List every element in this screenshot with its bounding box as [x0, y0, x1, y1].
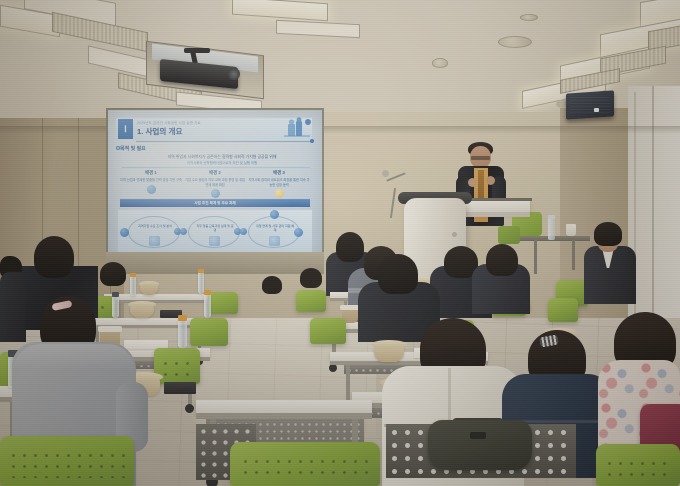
table-caster	[329, 364, 337, 372]
side-table	[520, 236, 590, 241]
table-leg	[572, 240, 575, 270]
attendee-head	[486, 244, 518, 276]
attendee-head	[34, 236, 74, 278]
bowl-rim	[371, 340, 407, 349]
bowl-rim	[128, 301, 156, 308]
chair	[208, 292, 238, 314]
cup-lid	[98, 326, 122, 332]
water-bottle	[548, 218, 555, 240]
bottle-cap	[112, 292, 119, 297]
chair	[190, 318, 228, 346]
attendee-head	[100, 262, 126, 286]
attendee-head	[378, 254, 418, 294]
water-bottle	[204, 294, 211, 318]
screen-glare	[108, 110, 322, 266]
backpack	[428, 420, 532, 470]
attendee-head	[336, 232, 364, 262]
attendee-head	[594, 222, 622, 246]
water-bottle	[178, 320, 187, 348]
bottle-cap	[204, 290, 211, 295]
presenter-hand	[486, 176, 495, 185]
bottle-cap	[178, 315, 187, 321]
table-leg	[534, 240, 537, 274]
bottle-cap	[548, 215, 555, 219]
speaker-grill	[570, 95, 610, 113]
glasses-icon	[471, 156, 490, 160]
chair-perforations	[240, 456, 372, 480]
chair	[310, 318, 346, 344]
cup-lid	[340, 305, 360, 310]
food-tray	[164, 382, 196, 394]
attendee-body	[0, 272, 26, 342]
attendee-shoulder-highlight	[14, 344, 134, 370]
screen-lower-frame	[106, 252, 324, 274]
water-bottle	[130, 276, 136, 296]
bottle-cap	[198, 269, 204, 273]
chair	[548, 298, 578, 322]
table	[196, 400, 372, 413]
table-caster	[185, 404, 194, 413]
chair-perforations	[8, 450, 126, 478]
water-bottle	[112, 296, 119, 318]
chair	[498, 226, 520, 244]
microphone-icon	[382, 170, 389, 177]
podium-knob-icon	[452, 232, 457, 237]
attendee-head	[300, 268, 322, 288]
podium-shelf-edge	[458, 212, 530, 217]
bowl-rim	[139, 281, 159, 287]
speaker-led-icon	[594, 108, 599, 112]
paper-cup	[566, 224, 576, 236]
chair-perforations	[604, 458, 672, 480]
seminar-room-photo: Ⅰ 2025년도 온라인 사회공헌 사업 설명 자료 1. 사업의 개요 목적 …	[0, 0, 680, 486]
bottle-cap	[130, 273, 136, 277]
attendee-head	[262, 276, 282, 294]
chair	[296, 290, 326, 312]
chair-perforations	[160, 358, 194, 376]
ceiling-wall-junction	[0, 126, 680, 134]
presenter-hand	[468, 178, 477, 187]
backpack-buckle	[470, 432, 486, 439]
